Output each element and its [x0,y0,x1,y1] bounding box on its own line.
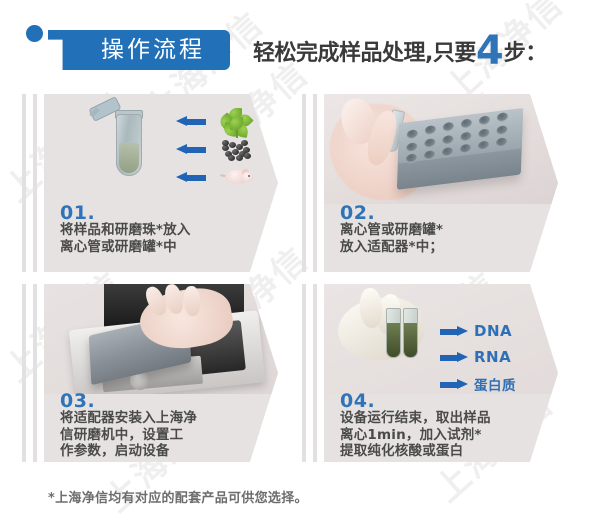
input-arrow-1 [176,116,206,127]
step-number: 02. [340,202,375,224]
page-title: 轻松完成样品处理,只要4步： [253,28,547,74]
step-description-line: 设备运行结束，取出样品 [340,410,545,427]
sample-tube-icon [386,308,401,358]
output-label: 蛋白质 [474,374,516,394]
card-accent-bar [313,94,317,272]
step-number: 03. [60,390,95,412]
card-accent-bar [33,94,37,272]
photo-grinder [44,284,278,394]
step-illustration-4: DNA RNA 蛋白质 [324,284,558,394]
step-card-body: DNA RNA 蛋白质 04. 设备运行结束，取出样品 离心1min，加入试剂*… [324,284,558,462]
title-prefix: 轻松完成样品处理,只要 [253,41,476,66]
output-row-rna: RNA [440,348,511,366]
title-suffix: 步： [504,41,547,66]
input-arrow-2 [176,144,206,155]
card-accent-bar [22,94,26,272]
mouse-icon [220,166,254,188]
footer-note: *上海净信均有对应的配套产品可供您选择。 [48,487,308,506]
step-description: 将样品和研磨珠*放入 离心管或研磨罐*中 [60,222,265,256]
output-row-dna: DNA [440,322,512,340]
step-illustration-3 [44,284,278,394]
banner-label: 操作流程 [78,32,228,68]
step-description-line: 放入适配器*中； [340,239,545,256]
leaf-icon [220,108,252,138]
card-accent-bar [33,284,37,462]
step-description-line: 信研磨机中，设置工 [60,427,265,444]
title-step-count: 4 [476,28,504,74]
card-accent-bar [302,284,306,462]
steps-grid: 01. 将样品和研磨珠*放入 离心管或研磨罐*中 [0,88,600,478]
page-header: 操作流程 轻松完成样品处理,只要4步： [0,0,600,88]
output-label: RNA [474,348,511,366]
card-accent-bar [313,284,317,462]
step-number: 01. [60,202,95,224]
banner-dot-icon [26,25,43,42]
arrow-right-icon [440,379,468,390]
step-description: 离心管或研磨罐* 放入适配器*中； [340,222,545,256]
arrow-right-icon [440,352,468,363]
sample-tube-icon [403,308,418,358]
output-label: DNA [474,322,512,340]
step-description-line: 将适配器安装入上海净 [60,410,265,427]
adapter-block-icon [397,108,523,190]
beads-icon [220,138,252,162]
test-tube-icon [116,106,142,184]
step-illustration-2 [324,94,558,204]
arrow-right-icon [440,326,468,337]
tube-body-icon [116,114,142,176]
step-description-line: 离心1min，加入试剂* [340,427,545,444]
step-number: 04. [340,390,375,412]
step-description-line: 作参数，启动设备 [60,443,265,460]
step-card-body: 02. 离心管或研磨罐* 放入适配器*中； [324,94,558,272]
step-description-line: 将样品和研磨珠*放入 [60,222,265,239]
step-description-line: 离心管或研磨罐* [340,222,545,239]
step-description-line: 提取纯化核酸或蛋白 [340,443,545,460]
step-card-body: 01. 将样品和研磨珠*放入 离心管或研磨罐*中 [44,94,278,272]
card-accent-bar [22,284,26,462]
step-card-body: 03. 将适配器安装入上海净 信研磨机中，设置工 作参数，启动设备 [44,284,278,462]
photo-hand-adapter [324,94,558,204]
step-description: 设备运行结束，取出样品 离心1min，加入试剂* 提取纯化核酸或蛋白 [340,410,545,460]
step-illustration-1 [44,94,278,204]
step-description-line: 离心管或研磨罐*中 [60,239,265,256]
card-accent-bar [302,94,306,272]
output-row-protein: 蛋白质 [440,374,516,394]
tube-liquid-icon [119,143,139,173]
step-description: 将适配器安装入上海净 信研磨机中，设置工 作参数，启动设备 [60,410,265,460]
input-arrow-3 [176,172,206,183]
photo-gloved-hand: DNA RNA 蛋白质 [324,284,558,394]
